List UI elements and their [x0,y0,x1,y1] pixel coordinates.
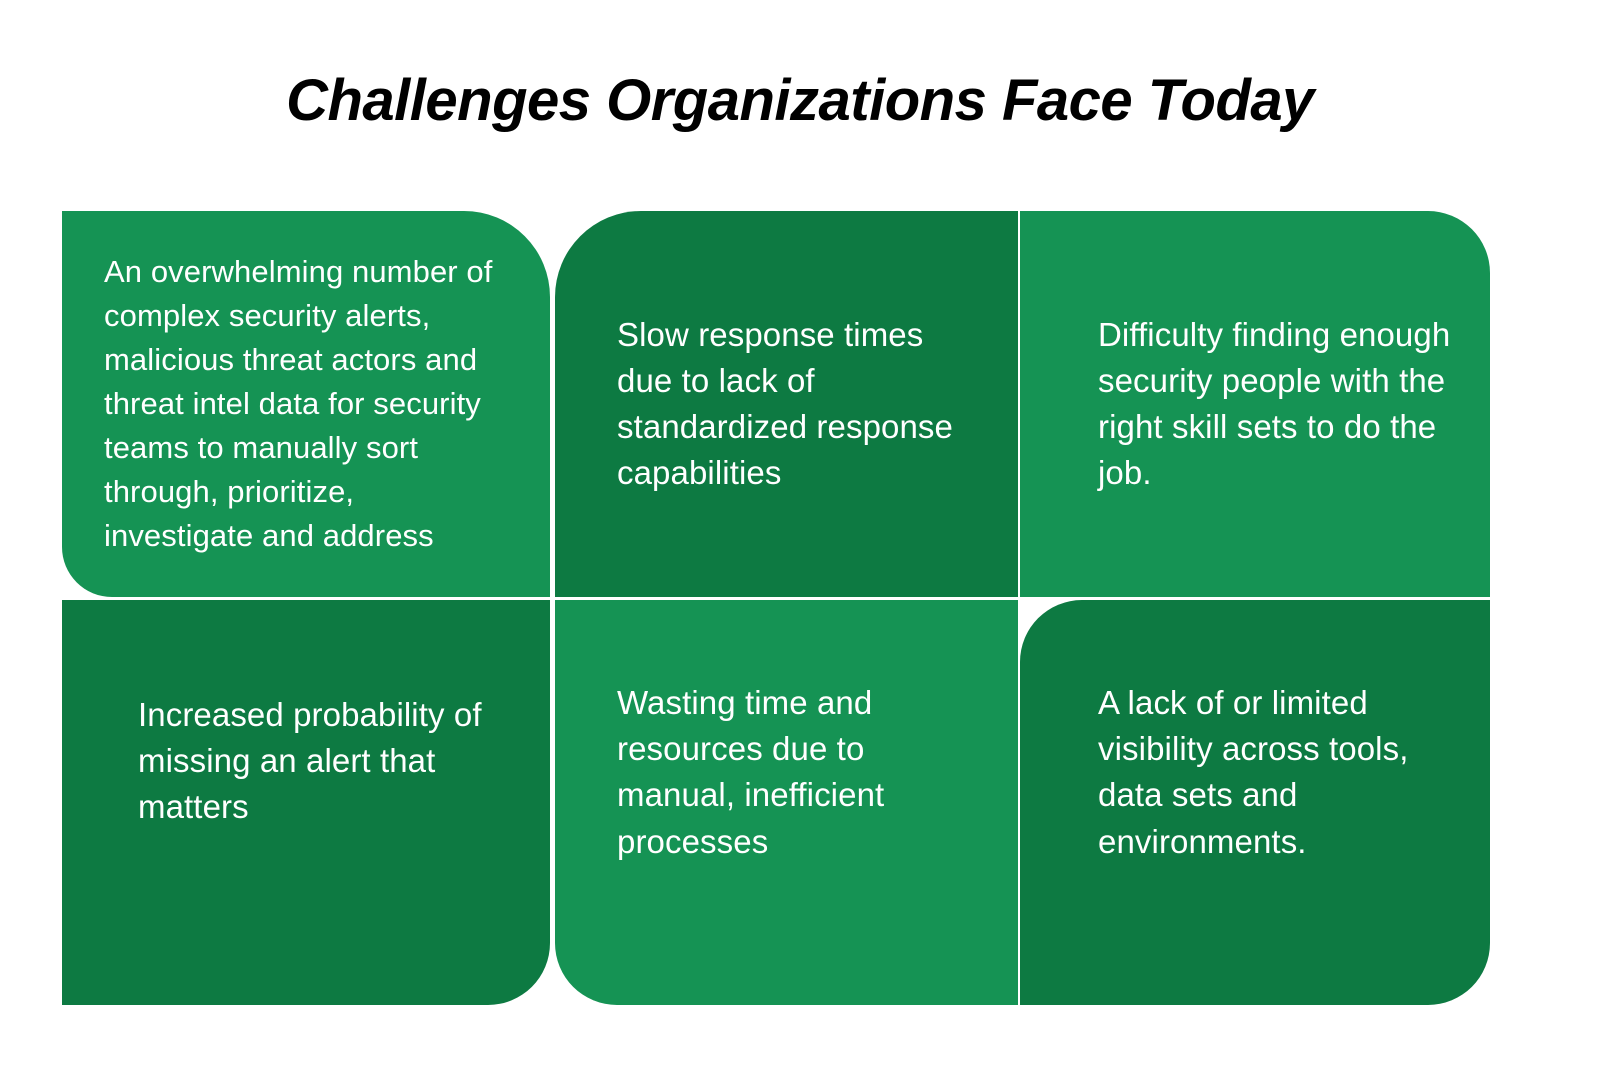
challenge-card-3-text: Difficulty finding enough security peopl… [1098,312,1460,497]
challenge-card-1[interactable]: An overwhelming number of complex securi… [62,211,550,597]
challenge-card-2[interactable]: Slow response times due to lack of stand… [555,211,1018,597]
challenge-card-6[interactable]: A lack of or limited visibility across t… [1020,600,1490,1005]
challenges-grid: An overwhelming number of complex securi… [62,211,1490,1005]
page-title: Challenges Organizations Face Today [0,68,1600,135]
challenge-card-2-text: Slow response times due to lack of stand… [617,312,978,497]
challenge-card-3[interactable]: Difficulty finding enough security peopl… [1020,211,1490,597]
slide-canvas: Challenges Organizations Face Today An o… [0,0,1600,1088]
challenge-card-6-text: A lack of or limited visibility across t… [1098,680,1460,865]
challenge-card-1-text: An overwhelming number of complex securi… [104,250,504,558]
challenge-card-5-text: Wasting time and resources due to manual… [617,680,986,865]
challenge-card-5[interactable]: Wasting time and resources due to manual… [555,600,1018,1005]
challenge-card-4-text: Increased probability of missing an aler… [138,692,510,831]
challenge-card-4[interactable]: Increased probability of missing an aler… [62,600,550,1005]
